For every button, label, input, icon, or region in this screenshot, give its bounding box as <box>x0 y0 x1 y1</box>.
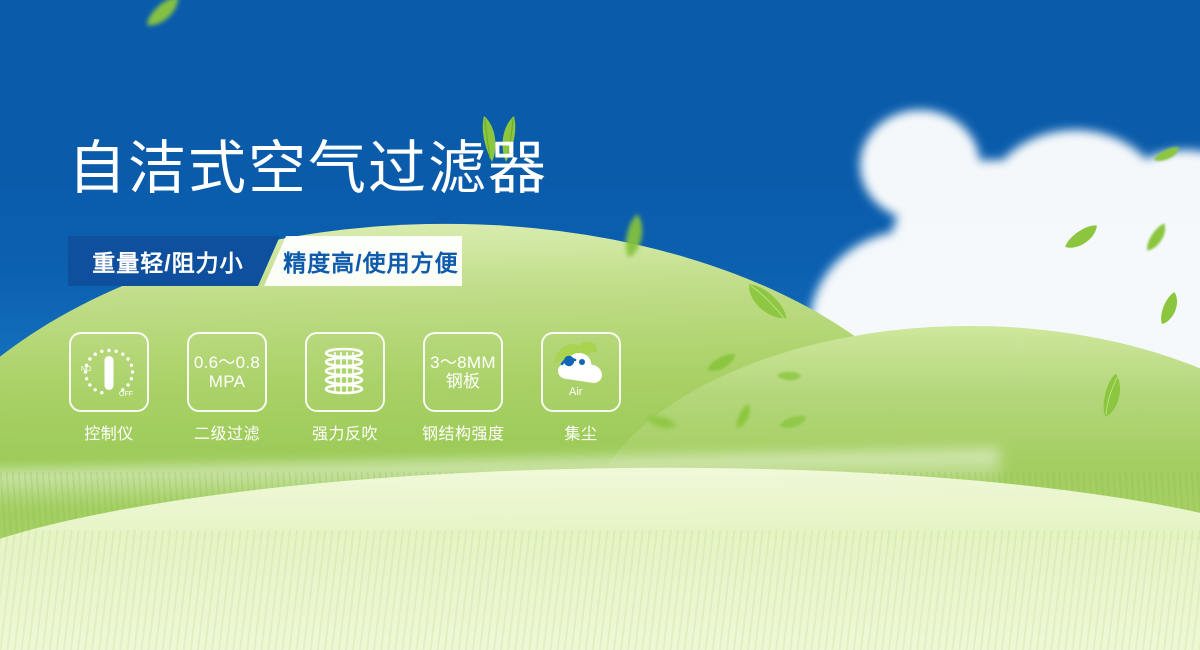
pressure-value: 0.6～0.8 <box>194 353 260 372</box>
feature-label: 控制仪 <box>84 426 134 443</box>
feature-list: NO OFF 0.6～0.8 MPA <box>68 332 622 412</box>
pressure-icon: 0.6～0.8 MPA <box>194 353 260 391</box>
subtitle-left-text: 重量轻/阻力小 <box>92 244 243 278</box>
feature-item-dust[interactable]: Air <box>540 332 622 412</box>
feature-item-pressure[interactable]: 0.6～0.8 MPA <box>186 332 268 412</box>
feature-icon-box: Air <box>541 332 621 412</box>
feature-icon-box: 0.6～0.8 MPA <box>187 332 267 412</box>
feature-icon-box <box>305 332 385 412</box>
filter-coil-icon <box>315 342 375 402</box>
air-cloud-icon: Air <box>549 341 613 403</box>
feature-icon-box: NO OFF <box>69 332 149 412</box>
steel-thickness: 3～8MM <box>430 353 496 372</box>
gauge-icon: NO OFF <box>77 340 141 404</box>
feature-item-backblow[interactable] <box>304 332 386 412</box>
feature-icon-box: 3～8MM 钢板 <box>423 332 503 412</box>
feature-label: 钢结构强度 <box>422 426 505 443</box>
page-title: 自洁式空气过滤器 <box>68 140 548 198</box>
subtitle-right-text: 精度高/使用方便 <box>283 244 458 278</box>
feature-item-steel[interactable]: 3～8MM 钢板 <box>422 332 504 412</box>
feature-label-row: 控制仪 二级过滤 强力反吹 钢结构强度 集尘 <box>68 420 622 444</box>
steel-material: 钢板 <box>430 372 496 391</box>
subtitle-right-segment: 精度高/使用方便 <box>264 236 462 286</box>
feature-item-controller[interactable]: NO OFF <box>68 332 150 412</box>
subtitle-bar: 重量轻/阻力小 精度高/使用方便 <box>68 236 462 286</box>
gauge-on-label: NO <box>81 366 92 373</box>
subtitle-left-segment: 重量轻/阻力小 <box>68 236 280 286</box>
product-banner: 自洁式空气过滤器 重量轻/阻力小 精度高/使用方便 <box>0 0 1200 650</box>
gauge-off-label: OFF <box>119 391 133 398</box>
feature-label: 集尘 <box>564 426 597 443</box>
air-label: Air <box>569 386 583 398</box>
feature-label: 强力反吹 <box>312 426 378 443</box>
steel-plate-icon: 3～8MM 钢板 <box>430 353 496 391</box>
grass-texture-foreground <box>0 530 1200 650</box>
pressure-unit: MPA <box>194 372 260 391</box>
feature-label: 二级过滤 <box>194 426 260 443</box>
